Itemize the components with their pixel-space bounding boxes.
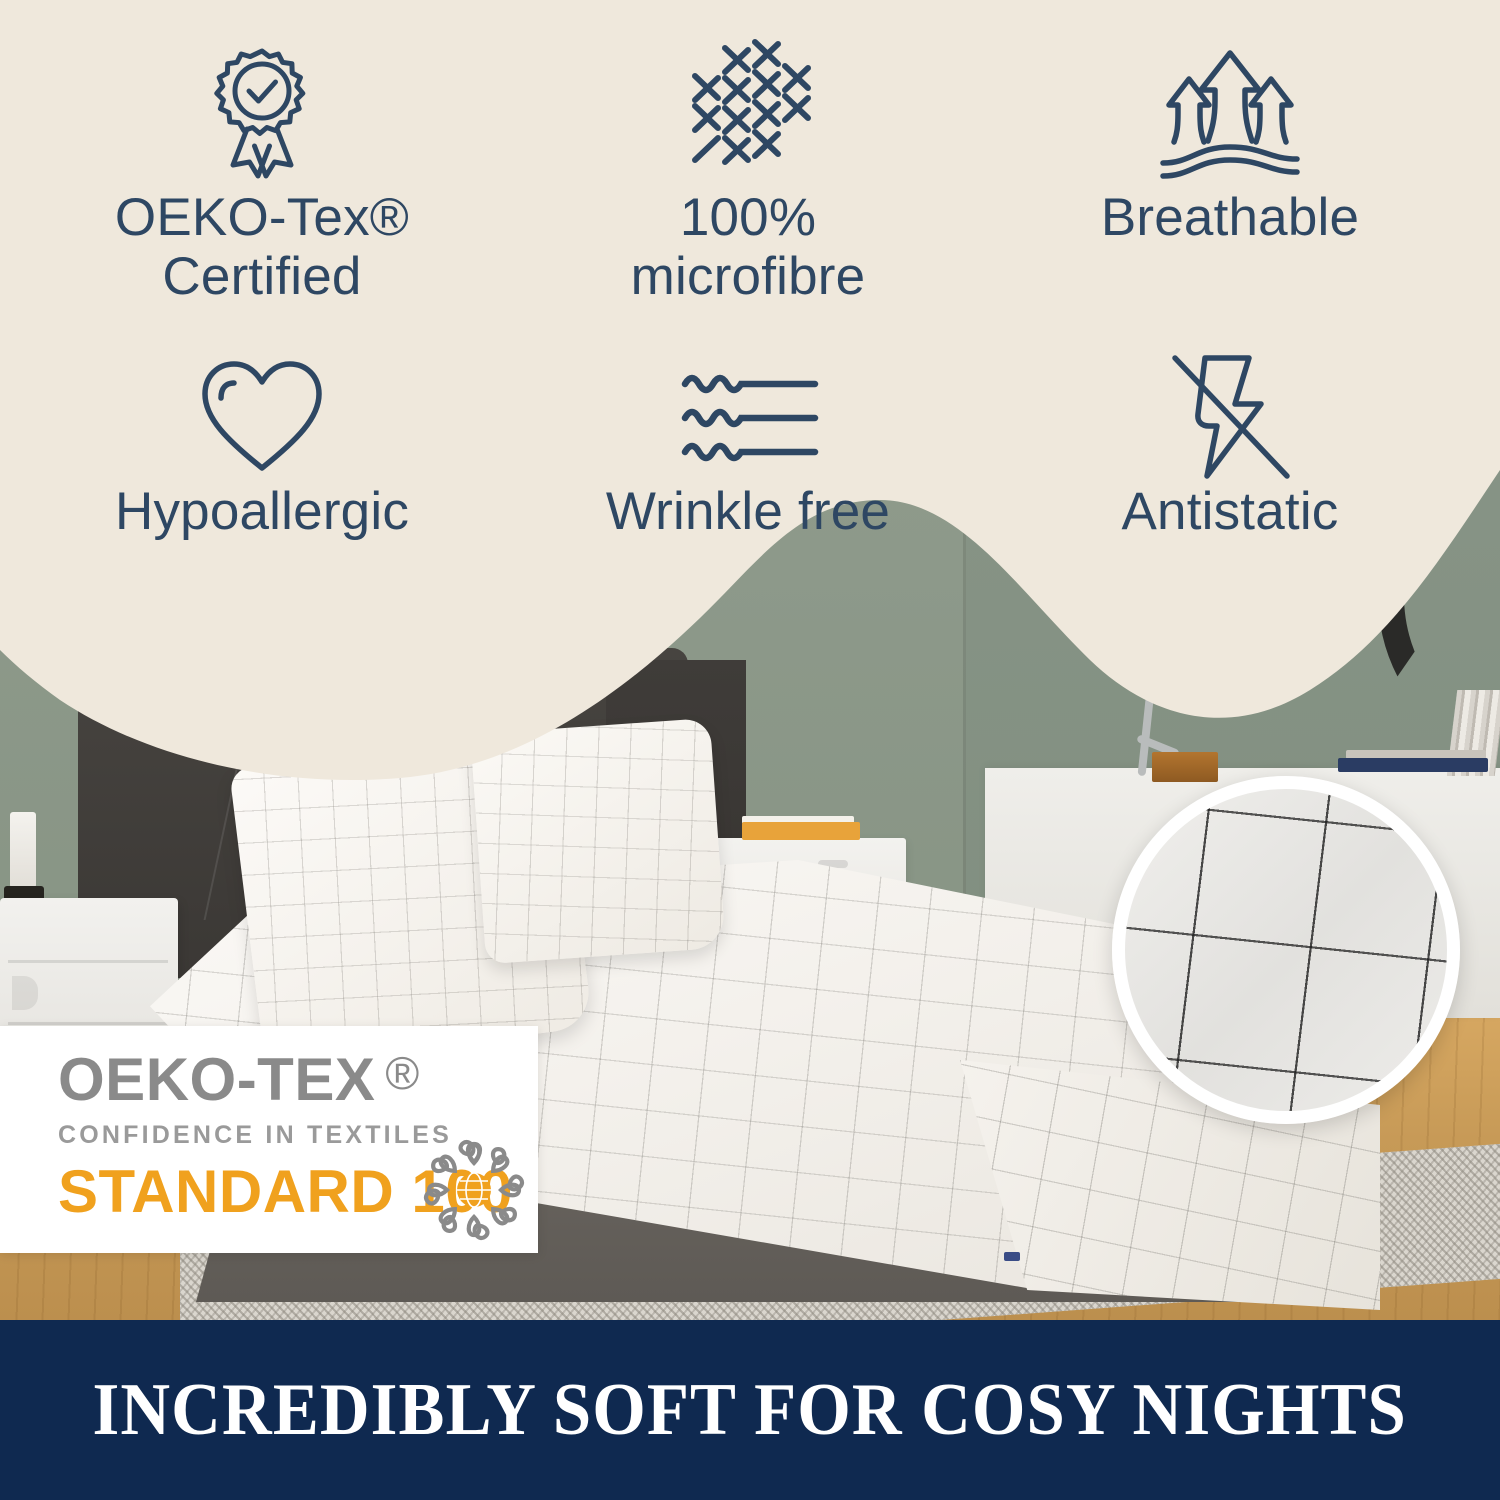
product-feature-banner: OEKO-Tex® Certified <box>0 0 1500 1500</box>
pillow-right-check-pattern <box>470 718 725 964</box>
breathable-arrows-icon <box>1020 38 1440 188</box>
fabric-check-pattern <box>1112 776 1460 1124</box>
feature-antistatic: Antistatic <box>1020 352 1440 541</box>
feature-label-line2: microfibre <box>538 247 958 306</box>
oeko-tex-brand-line: OEKO-TEX ® <box>58 1050 478 1110</box>
feature-label: OEKO-Tex® Certified <box>52 188 472 307</box>
feature-label-line1: 100% <box>538 188 958 247</box>
feature-oeko-tex-certified: OEKO-Tex® Certified <box>52 38 472 307</box>
woven-fabric-icon <box>538 38 958 188</box>
banner-headline: INCREDIBLY SOFT FOR COSY NIGHTS <box>93 1368 1407 1453</box>
feature-label-line1: Breathable <box>1020 188 1440 247</box>
oeko-tex-standard: STANDARD 100 <box>58 1157 478 1226</box>
certificate-rosette-icon <box>52 38 472 188</box>
feature-hypoallergic: Hypoallergic <box>52 352 472 541</box>
oeko-tex-logo-box: OEKO-TEX ® CONFIDENCE IN TEXTILES STANDA… <box>0 1026 538 1253</box>
feature-label-line1: OEKO-Tex® <box>52 188 472 247</box>
feature-label-line1: Antistatic <box>1020 482 1440 541</box>
feature-label: Hypoallergic <box>52 482 472 541</box>
heart-icon <box>52 352 472 482</box>
bottom-banner: INCREDIBLY SOFT FOR COSY NIGHTS <box>0 1320 1500 1500</box>
feature-label: Wrinkle free <box>538 482 958 541</box>
book-navy <box>1338 758 1488 772</box>
fabric-close-up-circle <box>1112 776 1460 1124</box>
feature-label-line2: Certified <box>52 247 472 306</box>
brand-tag <box>1004 1252 1020 1261</box>
lightning-bolt-slashed-icon <box>1020 352 1440 482</box>
feature-label: Antistatic <box>1020 482 1440 541</box>
book-orange <box>742 822 860 840</box>
oeko-tex-brand: OEKO-TEX <box>58 1050 375 1110</box>
oeko-tex-globe-emblem <box>420 1136 528 1244</box>
feature-microfibre: 100% microfibre <box>538 38 958 307</box>
registered-mark-icon: ® <box>385 1050 419 1096</box>
feature-label: 100% microfibre <box>538 188 958 307</box>
feature-wrinkle-free: Wrinkle free <box>538 352 958 541</box>
feature-label: Breathable <box>1020 188 1440 247</box>
lamp-wood-base <box>1152 752 1218 782</box>
feature-breathable: Breathable <box>1020 38 1440 247</box>
wavy-to-straight-lines-icon <box>538 352 958 482</box>
oeko-tex-tagline: CONFIDENCE IN TEXTILES <box>58 1121 478 1150</box>
feature-label-line1: Wrinkle free <box>538 482 958 541</box>
candle <box>10 812 36 888</box>
feature-label-line1: Hypoallergic <box>52 482 472 541</box>
feature-grid: OEKO-Tex® Certified <box>0 0 1500 620</box>
